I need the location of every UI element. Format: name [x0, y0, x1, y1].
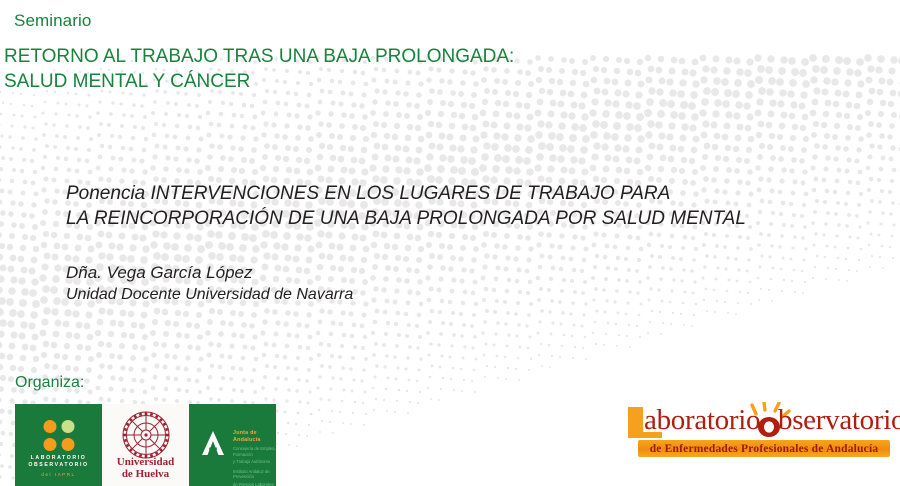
brand-laboratorio-observatorio: aboratorio bservatorio de Enfermedades P…: [628, 404, 890, 440]
brand-wordmark: aboratorio bservatorio: [628, 404, 890, 440]
logo-universidad-de-huelva: Universidad de Huelva: [102, 404, 189, 486]
junta-a-mark-icon: [200, 430, 226, 456]
brand-word-observatorio: bservatorio: [778, 404, 900, 437]
seminar-label: Seminario: [14, 11, 91, 31]
junta-logo-sub-3: Instituto Andaluz de Prevención: [233, 469, 276, 480]
speaker-name: Dña. Vega García López: [66, 262, 353, 284]
huelva-logo-text: Universidad de Huelva: [102, 456, 189, 480]
iaprl-logo-text: LABORATORIO OBSERVATORIO: [15, 455, 102, 469]
talk-title-line-1: Ponencia INTERVENCIONES EN LOS LUGARES D…: [66, 181, 746, 206]
organiza-label: Organiza:: [15, 374, 84, 392]
page-title: RETORNO AL TRABAJO TRAS UNA BAJA PROLONG…: [4, 44, 514, 94]
four-dots-icon: [43, 420, 74, 451]
page-title-line-2: SALUD MENTAL Y CÁNCER: [4, 69, 514, 94]
organizer-logo-strip: LABORATORIO OBSERVATORIO del IAPRL Unive…: [15, 404, 276, 486]
junta-logo-sub-1: Consejería de Empleo, Formación: [233, 446, 276, 457]
iaprl-logo-line-2: OBSERVATORIO: [15, 462, 102, 469]
huelva-crest-icon: [120, 410, 172, 460]
logo-laboratorio-observatorio-iaprl: LABORATORIO OBSERVATORIO del IAPRL: [15, 404, 102, 486]
junta-logo-sub-2: y Trabajo Autónomo: [233, 459, 276, 465]
brand-tagline-banner: de Enfermedades Profesionales de Andaluc…: [638, 440, 890, 457]
junta-logo-text: Junta de Andalucía Consejería de Empleo,…: [233, 430, 276, 486]
logo-junta-de-andalucia: Junta de Andalucía Consejería de Empleo,…: [189, 404, 276, 486]
talk-title-line-2: LA REINCORPORACIÓN DE UNA BAJA PROLONGAD…: [66, 206, 746, 231]
brand-word-laboratorio: aboratorio: [644, 404, 760, 437]
page-title-line-1: RETORNO AL TRABAJO TRAS UNA BAJA PROLONG…: [4, 44, 514, 69]
iaprl-logo-line-1: LABORATORIO: [15, 455, 102, 462]
iaprl-logo-line-3: del IAPRL: [15, 472, 102, 477]
speaker-block: Dña. Vega García López Unidad Docente Un…: [66, 262, 353, 306]
junta-logo-sub-4: de Riesgos Laborales: [233, 482, 276, 486]
junta-logo-title: Junta de Andalucía: [233, 430, 276, 444]
huelva-logo-line-1: Universidad: [102, 456, 189, 468]
huelva-logo-line-2: de Huelva: [102, 468, 189, 480]
brand-tagline: de Enfermedades Profesionales de Andaluc…: [650, 443, 879, 455]
talk-title-block: Ponencia INTERVENCIONES EN LOS LUGARES D…: [66, 181, 746, 231]
speaker-affiliation: Unidad Docente Universidad de Navarra: [66, 284, 353, 306]
